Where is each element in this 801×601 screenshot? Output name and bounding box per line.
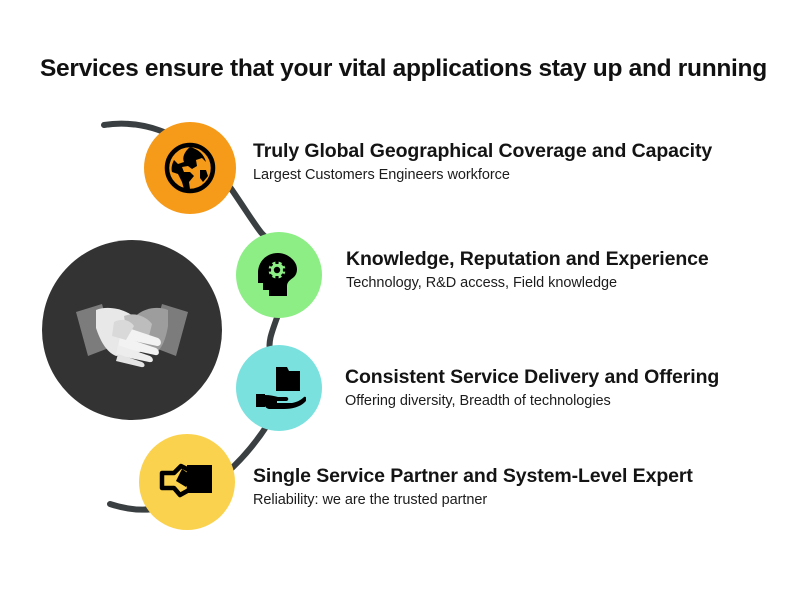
step-text-delivery: Consistent Service Delivery and Offering… bbox=[345, 365, 719, 411]
step-node-knowledge[interactable] bbox=[236, 232, 322, 318]
step-text-knowledge: Knowledge, Reputation and Experience Tec… bbox=[346, 247, 709, 293]
hand-folder-icon bbox=[252, 363, 306, 413]
feature-circle bbox=[42, 240, 222, 420]
step-text-globe: Truly Global Geographical Coverage and C… bbox=[253, 139, 712, 185]
step-node-partner[interactable] bbox=[139, 434, 235, 530]
step-node-delivery[interactable] bbox=[236, 345, 322, 431]
step-text-partner: Single Service Partner and System-Level … bbox=[253, 464, 693, 510]
step-subtitle: Reliability: we are the trusted partner bbox=[253, 491, 693, 510]
step-subtitle: Largest Customers Engineers workforce bbox=[253, 166, 712, 185]
handshake-icon bbox=[158, 459, 216, 505]
step-title: Consistent Service Delivery and Offering bbox=[345, 365, 719, 389]
infographic-canvas: Services ensure that your vital applicat… bbox=[0, 0, 801, 601]
step-subtitle: Offering diversity, Breadth of technolog… bbox=[345, 392, 719, 411]
step-subtitle: Technology, R&D access, Field knowledge bbox=[346, 274, 709, 293]
globe-icon bbox=[164, 142, 216, 194]
step-title: Single Service Partner and System-Level … bbox=[253, 464, 693, 488]
head-gear-icon bbox=[254, 250, 304, 300]
step-node-globe[interactable] bbox=[144, 122, 236, 214]
step-title: Knowledge, Reputation and Experience bbox=[346, 247, 709, 271]
handshake-illustration-icon bbox=[62, 260, 202, 400]
step-title: Truly Global Geographical Coverage and C… bbox=[253, 139, 712, 163]
